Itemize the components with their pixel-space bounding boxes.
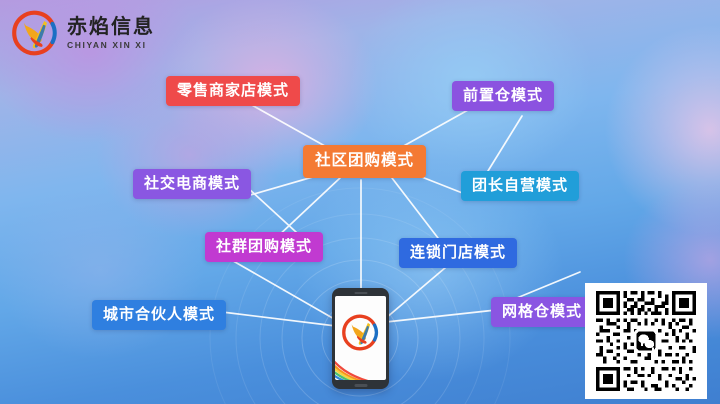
brand-name-block: 赤焰信息 CHIYAN XIN XI bbox=[67, 17, 155, 50]
node-city-partner[interactable]: 城市合伙人模式 bbox=[92, 300, 226, 330]
phone-speaker bbox=[354, 292, 367, 294]
chiyan-flame-circle-logo-icon bbox=[12, 10, 58, 56]
brand-logo: 赤焰信息 CHIYAN XIN XI bbox=[12, 10, 155, 56]
smartphone-icon bbox=[332, 288, 389, 389]
brand-name-cn: 赤焰信息 bbox=[67, 17, 155, 37]
brand-name-en: CHIYAN XIN XI bbox=[67, 41, 155, 50]
wechat-qr-panel[interactable] bbox=[585, 283, 707, 399]
phone-screen bbox=[335, 296, 386, 380]
phone-home-button bbox=[354, 384, 367, 387]
node-retail-merchant-store[interactable]: 零售商家店模式 bbox=[166, 76, 300, 106]
rainbow-ribbon-decoration bbox=[335, 344, 386, 380]
node-chain-store[interactable]: 连锁门店模式 bbox=[399, 238, 517, 268]
node-front-warehouse[interactable]: 前置仓模式 bbox=[452, 81, 554, 111]
node-social-ecommerce[interactable]: 社交电商模式 bbox=[133, 169, 251, 199]
wechat-qr-code-icon bbox=[596, 291, 696, 391]
node-leader-self-operated[interactable]: 团长自营模式 bbox=[461, 171, 579, 201]
node-community-group-buy-group[interactable]: 社群团购模式 bbox=[205, 232, 323, 262]
node-grid-warehouse[interactable]: 网格仓模式 bbox=[491, 297, 593, 327]
node-center-community-group-buy[interactable]: 社区团购模式 bbox=[303, 145, 426, 178]
community-group-buy-infographic: 赤焰信息 CHIYAN XIN XI 零售商家店模式 前置仓模式 社区团购模式 … bbox=[0, 0, 720, 404]
